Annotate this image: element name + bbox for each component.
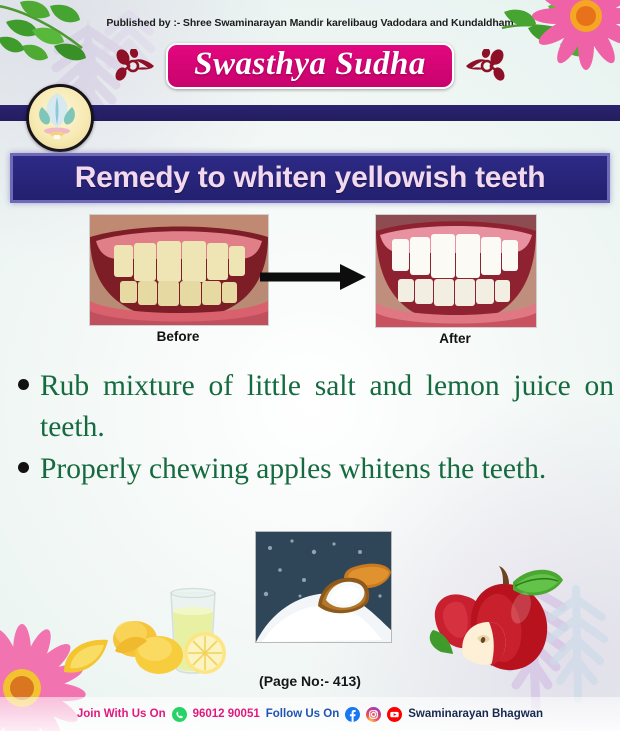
magazine-title-row: Swasthya Sudha <box>0 42 620 90</box>
floral-ornament-icon-left <box>114 49 158 83</box>
before-label: Before <box>89 329 267 344</box>
after-label: After <box>375 331 535 346</box>
right-arrow-icon <box>258 262 368 292</box>
magazine-title: Swasthya Sudha <box>194 46 426 82</box>
swaminarayan-emblem-icon <box>26 84 94 152</box>
after-teeth-photo <box>375 214 537 328</box>
published-by-text: Published by :- Shree Swaminarayan Mandi… <box>0 17 620 29</box>
magazine-title-banner: Swasthya Sudha <box>166 43 454 89</box>
before-teeth-photo <box>89 214 269 326</box>
social-handle: Swaminarayan Bhagwan <box>408 708 543 720</box>
poster-footer: Join With Us On 96012 90051 Follow Us On <box>0 697 620 731</box>
poster-root: Published by :- Shree Swaminarayan Mandi… <box>0 0 620 731</box>
tip-text: Properly chewing apples whitens the teet… <box>40 449 546 490</box>
lemon-juice-glass-image <box>113 567 245 675</box>
list-item: Rub mixture of little salt and lemon jui… <box>14 366 614 447</box>
bullet-dot-icon <box>18 462 29 473</box>
floral-ornament-icon-right <box>462 49 506 83</box>
list-item: Properly chewing apples whitens the teet… <box>14 449 614 490</box>
follow-label: Follow Us On <box>266 708 339 720</box>
remedy-title-box: Remedy to whiten yellowish teeth <box>10 153 610 203</box>
facebook-icon[interactable] <box>345 707 360 722</box>
whatsapp-icon[interactable] <box>172 707 187 722</box>
youtube-icon[interactable] <box>387 707 402 722</box>
poster-header: Published by :- Shree Swaminarayan Mandi… <box>0 0 620 100</box>
tip-text: Rub mixture of little salt and lemon jui… <box>40 366 614 447</box>
remedy-tips-list: Rub mixture of little salt and lemon jui… <box>14 366 614 492</box>
remedy-title-text: Remedy to whiten yellowish teeth <box>75 161 546 195</box>
salt-spoon-image <box>255 531 392 643</box>
phone-number[interactable]: 96012 90051 <box>193 708 260 720</box>
before-after-comparison: Before <box>0 214 620 344</box>
page-number: (Page No:- 413) <box>0 673 620 689</box>
red-apple-image <box>425 560 570 680</box>
join-label: Join With Us On <box>77 708 166 720</box>
bullet-dot-icon <box>18 379 29 390</box>
instagram-icon[interactable] <box>366 707 381 722</box>
